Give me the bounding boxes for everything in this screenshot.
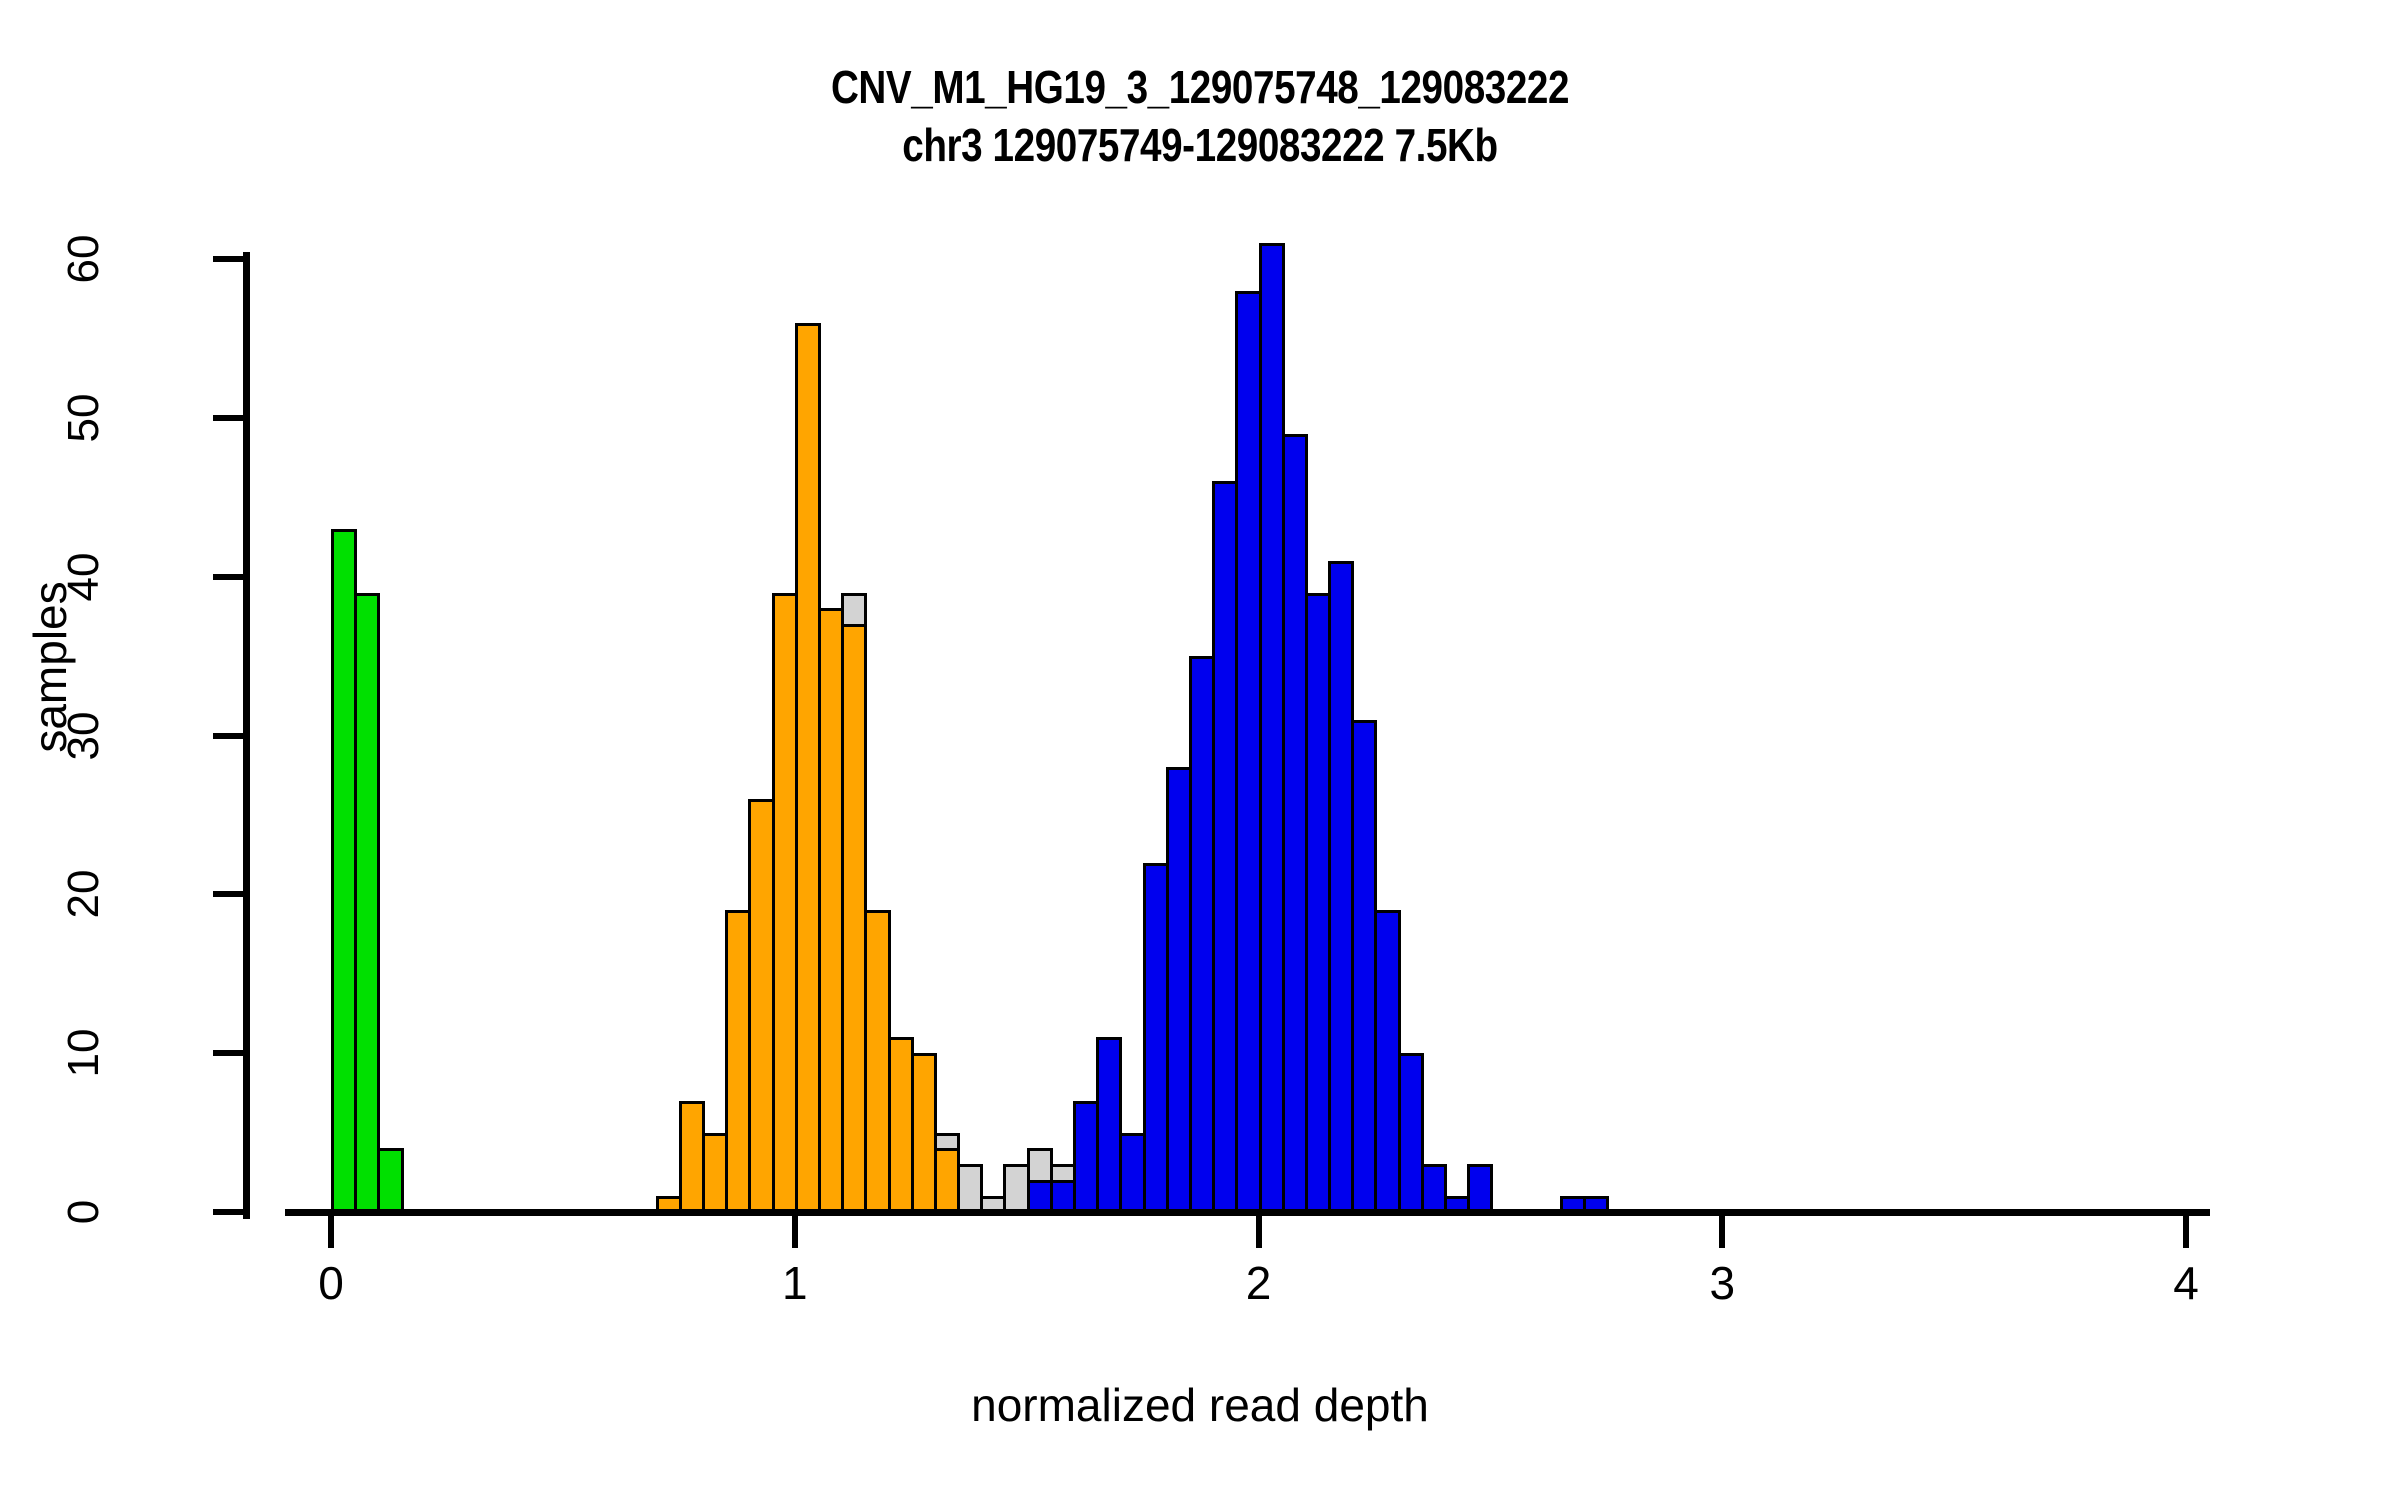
- plot-area: [331, 259, 2186, 1212]
- y-axis-tick: [213, 1050, 245, 1056]
- y-axis-tick: [213, 574, 245, 580]
- x-axis-title: normalized read depth: [0, 1378, 2400, 1432]
- histogram-bar-blue: [1467, 1164, 1493, 1212]
- x-axis-tick: [1256, 1216, 1262, 1248]
- x-axis-tick-label: 0: [271, 1256, 391, 1310]
- y-axis-tick: [213, 415, 245, 421]
- x-axis-tick-label: 1: [735, 1256, 855, 1310]
- y-axis-tick: [213, 1209, 245, 1215]
- chart-canvas: CNV_M1_HG19_3_129075748_129083222 chr3 1…: [0, 0, 2400, 1500]
- x-axis-tick-label: 3: [1662, 1256, 1782, 1310]
- x-axis-tick: [792, 1216, 798, 1248]
- y-axis-title: samples: [23, 547, 77, 787]
- x-axis-tick-label: 4: [2126, 1256, 2246, 1310]
- x-axis-tick: [2183, 1216, 2189, 1248]
- y-axis-tick: [213, 891, 245, 897]
- y-axis-tick: [213, 256, 245, 262]
- plot-region: 0102030405060 01234: [0, 0, 2400, 1500]
- x-axis-tick: [328, 1216, 334, 1248]
- histogram-bar-blue: [1583, 1196, 1609, 1212]
- histogram-bar-green: [354, 593, 380, 1212]
- x-axis-tick-label: 2: [1199, 1256, 1319, 1310]
- y-axis-tick: [213, 733, 245, 739]
- histogram-bars: [331, 259, 2400, 1212]
- y-axis-tick-label: 60: [59, 154, 109, 364]
- x-axis-tick: [1719, 1216, 1725, 1248]
- histogram-bar-green: [377, 1148, 403, 1212]
